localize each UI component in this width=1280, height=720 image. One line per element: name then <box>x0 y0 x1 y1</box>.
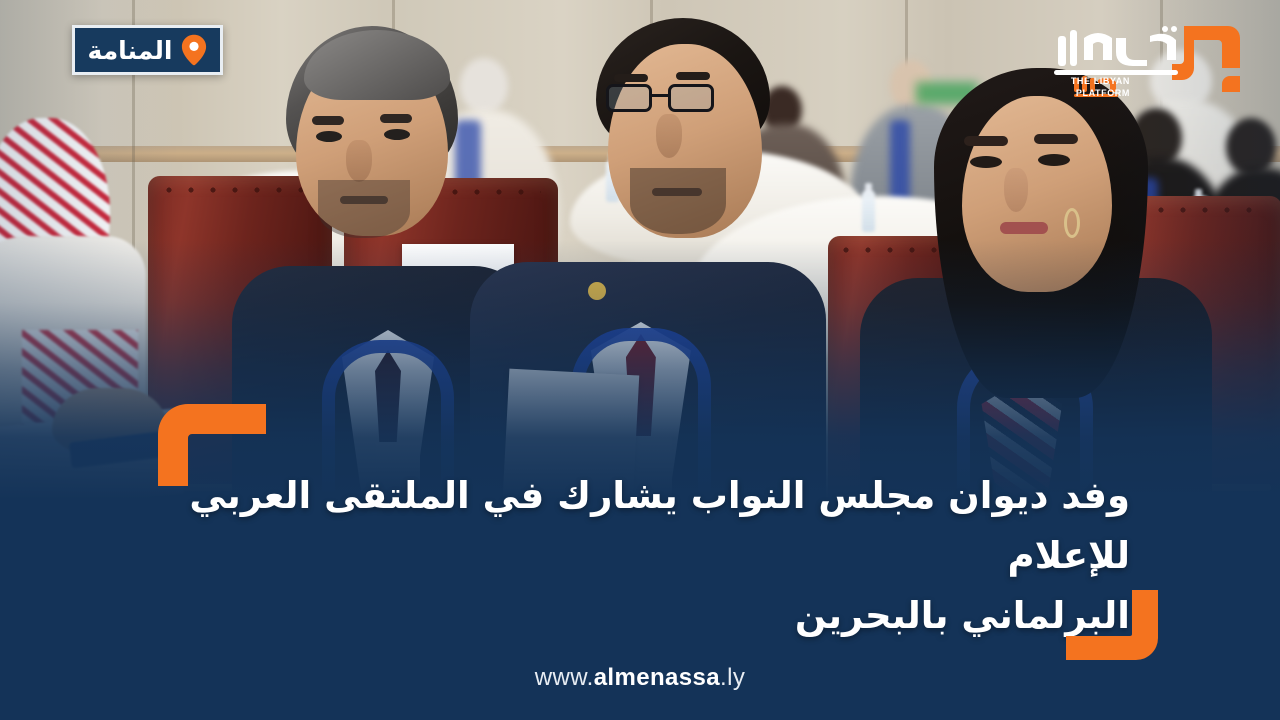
almenassa-logo[interactable]: THE LIBYAN PLATFORM <box>1034 18 1252 104</box>
map-pin-icon <box>181 34 207 66</box>
location-label: المنامة <box>88 38 173 63</box>
logo-english-line2: PLATFORM <box>1076 88 1130 98</box>
headline-line-2: البرلماني بالبحرين <box>150 586 1130 646</box>
headline-text: وفد ديوان مجلس النواب يشارك في الملتقى ا… <box>150 466 1130 646</box>
url-prefix: www. <box>535 664 594 691</box>
website-url[interactable]: www.almenassa.ly <box>0 664 1280 692</box>
corner-bracket-bottom-right-icon <box>1066 590 1158 660</box>
headline-block: وفد ديوان مجلس النواب يشارك في الملتقى ا… <box>0 404 1280 654</box>
location-badge: المنامة <box>72 25 223 75</box>
url-brand: almenassa <box>594 664 720 691</box>
logo-english-line1: THE LIBYAN <box>1071 76 1130 86</box>
news-card: المنامة <box>0 0 1280 720</box>
headline-line-1: وفد ديوان مجلس النواب يشارك في الملتقى ا… <box>150 466 1130 586</box>
url-suffix: .ly <box>720 664 745 691</box>
